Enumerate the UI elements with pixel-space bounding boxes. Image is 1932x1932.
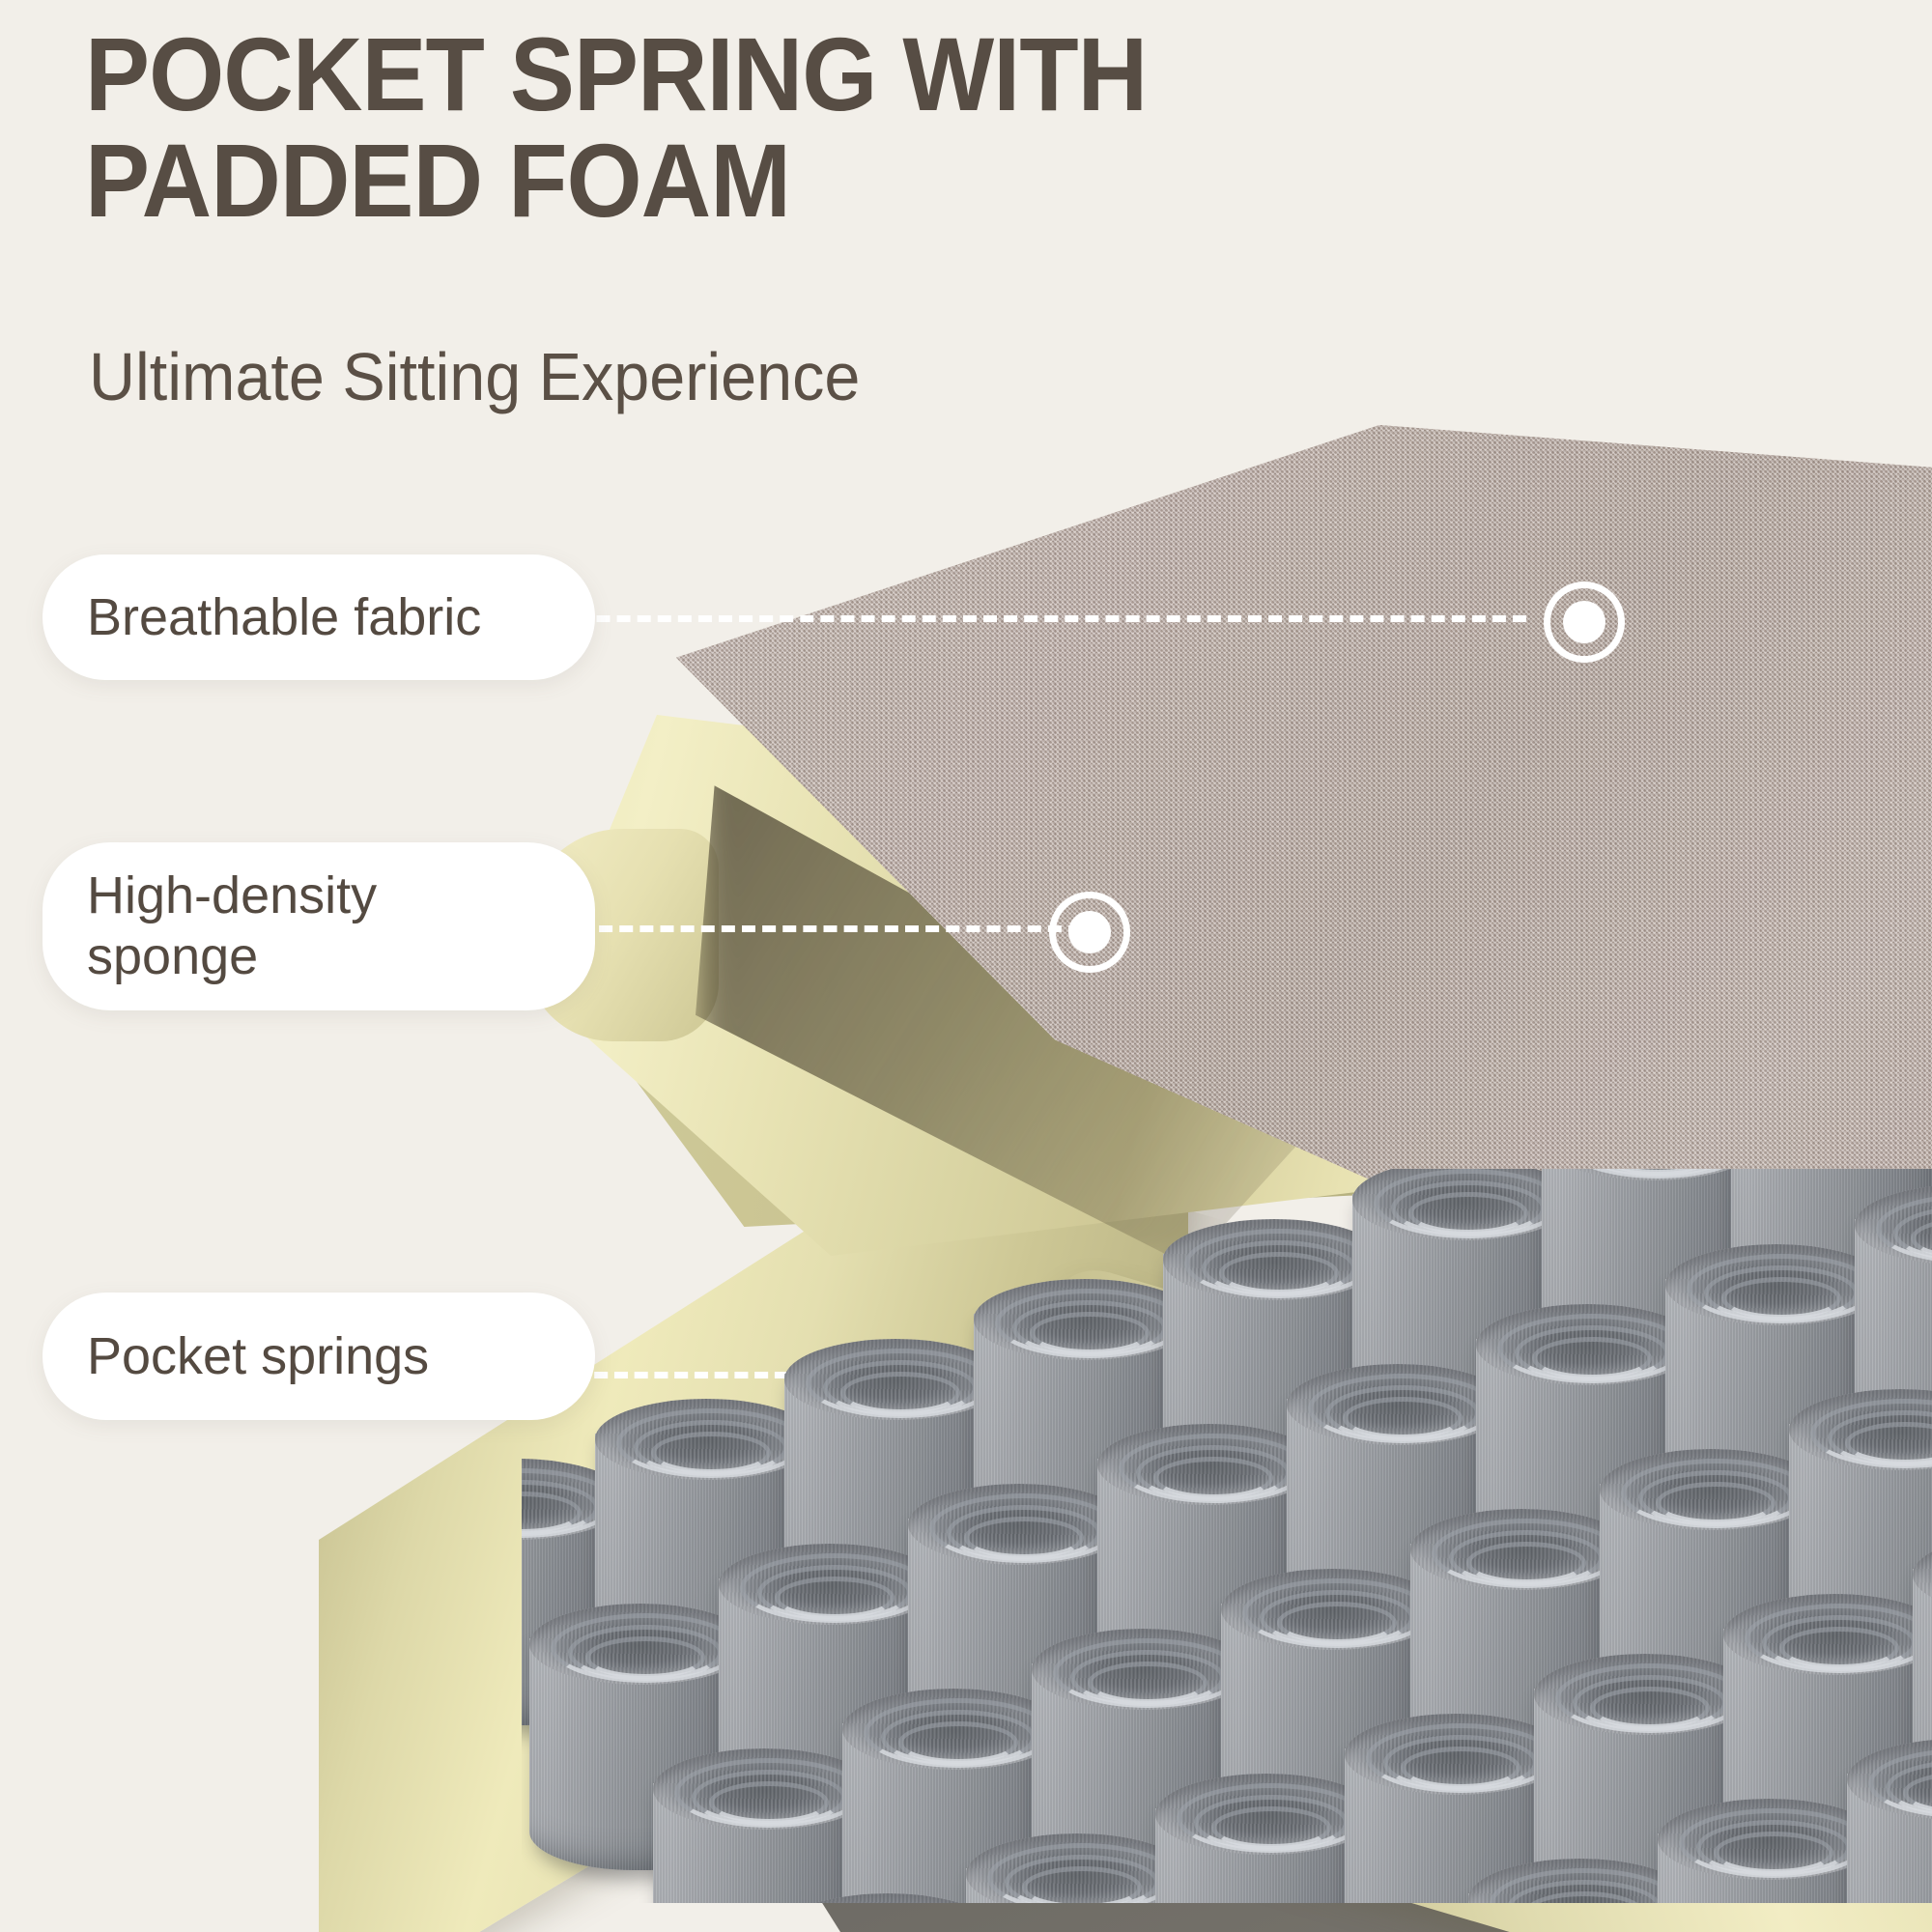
coil-ring xyxy=(1721,1277,1841,1320)
coil-ring xyxy=(1408,1192,1528,1235)
coil-ring xyxy=(1219,1252,1339,1294)
connector-line-fabric xyxy=(454,615,1526,622)
page-subtitle: Ultimate Sitting Experience xyxy=(89,343,1374,411)
coil-ring xyxy=(1656,1482,1776,1524)
coil-ring xyxy=(964,1517,1084,1559)
marker-dot xyxy=(1563,601,1605,643)
coil-ring xyxy=(1211,1806,1331,1849)
coil-ring xyxy=(1779,1627,1899,1669)
callout-label-high-density-sponge: High-density sponge xyxy=(43,842,595,1010)
callout-marker-fabric-icon xyxy=(1544,582,1625,663)
coil-ring xyxy=(1532,1337,1652,1379)
coil-ring xyxy=(709,1781,829,1824)
fabric-sheet xyxy=(676,425,1932,1256)
callout-label-breathable-fabric: Breathable fabric xyxy=(43,554,595,680)
coil-ring xyxy=(1590,1687,1710,1729)
coil-ring xyxy=(775,1577,895,1619)
coil-ring xyxy=(1088,1662,1207,1704)
coil-ring xyxy=(898,1721,1018,1764)
coil-ring xyxy=(651,1432,771,1474)
coil-ring xyxy=(1401,1747,1520,1789)
breathable-fabric-layer xyxy=(676,425,1932,1256)
pocket-spring xyxy=(1847,1739,1932,1903)
spring-top-face xyxy=(1723,1594,1932,1675)
infographic-canvas: POCKET SPRING WITH PADDED FOAM Ultimate … xyxy=(0,0,1932,1932)
coil-ring xyxy=(1466,1542,1586,1584)
coil-ring xyxy=(1277,1602,1397,1644)
callout-marker-sponge-icon xyxy=(1049,892,1130,973)
coil-ring xyxy=(840,1372,960,1414)
coil-ring xyxy=(1030,1312,1150,1354)
marker-dot xyxy=(1068,911,1111,953)
callout-label-pocket-springs: Pocket springs xyxy=(43,1293,595,1420)
coil-ring xyxy=(1153,1457,1273,1499)
page-title: POCKET SPRING WITH PADDED FOAM xyxy=(85,21,1487,234)
coil-ring xyxy=(1022,1866,1142,1903)
coil-ring xyxy=(585,1636,705,1679)
coil-ring xyxy=(1343,1397,1463,1439)
coil-ring xyxy=(1714,1832,1833,1874)
